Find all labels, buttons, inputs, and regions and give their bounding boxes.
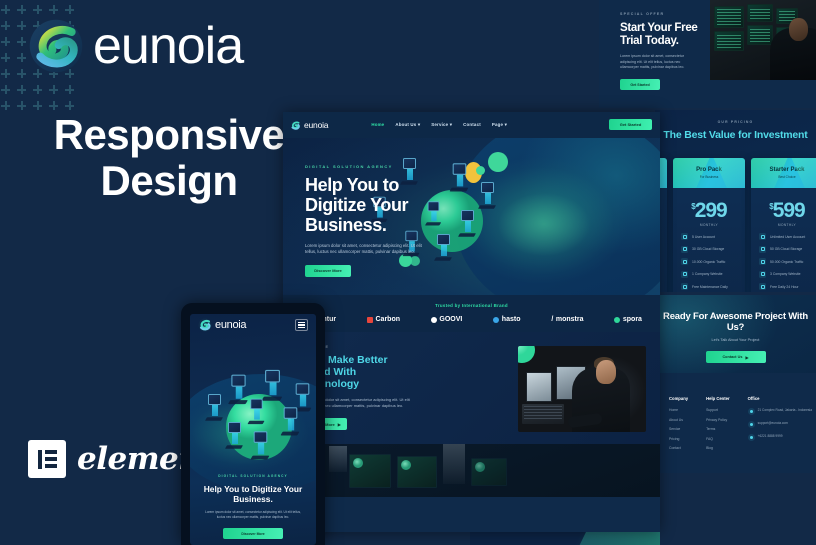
brand-mark-icon: [367, 317, 373, 323]
mockup-nav-item-home[interactable]: Home: [371, 122, 384, 128]
check-icon: [681, 233, 688, 240]
isometric-device-icon: [229, 375, 248, 406]
brand-logo-carbon: Carbon: [367, 316, 400, 323]
brand-logo-spora: spora: [614, 316, 642, 323]
plus-icon: [17, 53, 26, 62]
pricing-card-subtitle: Best Choice: [778, 175, 795, 179]
hero-text: Lorem ipsum dolor sit amet, consectetur …: [305, 243, 431, 256]
footer-office-item: 21 Complex Road, Jakarta - Indonesia: [748, 408, 812, 415]
footer-link[interactable]: Blog: [706, 446, 730, 450]
brand-mark-icon: /: [551, 316, 553, 323]
footer-link[interactable]: FAQ: [706, 437, 730, 441]
arrow-right-icon: ▶: [338, 422, 341, 427]
trial-text: Lorem ipsum dolor sit amet, consectetur …: [620, 54, 700, 70]
footer-link[interactable]: Pricing: [669, 437, 688, 441]
brand-logo-label: spora: [623, 316, 642, 323]
plus-icon: [17, 5, 26, 14]
mockup-logo[interactable]: eunoia: [290, 120, 328, 131]
plus-icon: [49, 5, 58, 14]
isometric-device-icon: [252, 431, 270, 460]
brand-logo-label: Carbon: [376, 316, 401, 323]
pricing-feature-list: 5 User Account30 GB Cloud Storage10.000 …: [673, 233, 745, 292]
mobile-navbar: eunoia: [190, 314, 316, 336]
pricing-card-price: $299MONTHLY: [673, 188, 745, 233]
mockup-nav-cta-button[interactable]: Get Started: [609, 119, 652, 130]
brand-mark-icon: [431, 317, 437, 323]
mobile-logo[interactable]: eunoia: [198, 318, 246, 332]
footer-link[interactable]: Service: [669, 427, 688, 431]
plus-icon: [1, 53, 10, 62]
mail-icon: [748, 421, 755, 428]
isometric-device-icon: [451, 163, 469, 192]
brand-logo-label: hasto: [502, 316, 521, 323]
pricing-card-subtitle: For Business: [700, 175, 719, 179]
server-room-monitors-photo: [283, 444, 660, 497]
check-icon: [681, 246, 688, 253]
plus-icon: [65, 5, 74, 14]
arrow-right-icon: ▶: [745, 355, 748, 360]
globe-backdrop: [454, 138, 660, 295]
footer-column-heading: Office: [748, 396, 812, 401]
footer-link[interactable]: Home: [669, 408, 688, 412]
pricing-feature: 10.000 Organic Traffic: [681, 258, 737, 265]
cta-title: Ready For Awesome Project With Us?: [655, 311, 816, 333]
pricing-feature: 30 GB Cloud Storage: [681, 246, 737, 253]
pricing-title: The Best Value for Investment: [655, 129, 816, 141]
pricing-feature: 5 User Account: [681, 233, 737, 240]
footer-link[interactable]: Support: [706, 408, 730, 412]
isometric-device-icon: [263, 370, 283, 402]
currency-symbol: $: [691, 202, 694, 211]
elementor-panel-icon: [28, 440, 66, 478]
plus-icon: [65, 85, 74, 94]
check-icon: [759, 271, 766, 278]
mockup-nav-item-about-us[interactable]: About Us ▾: [395, 122, 420, 128]
pricing-card-price: $599MONTHLY: [751, 188, 816, 233]
analyst-multiple-monitors-photo: [710, 0, 816, 80]
brand-logo-monstra: /monstra: [551, 316, 583, 323]
mockup-nav-item-service[interactable]: Service ▾: [431, 122, 452, 128]
hero-title: Help You to Digitize Your Business.: [305, 175, 451, 235]
plus-icon: [49, 101, 58, 110]
desktop-mockup: eunoia HomeAbout Us ▾Service ▾ContactPag…: [283, 112, 660, 532]
pricing-feature-list: Unlimited User Account50 GB Cloud Storag…: [751, 233, 816, 292]
plus-icon: [17, 69, 26, 78]
pricing-card-header: Pro PackFor Business: [673, 158, 745, 188]
plus-icon: [17, 37, 26, 46]
isometric-devices-globe-illustration: [190, 336, 316, 486]
pricing-period: MONTHLY: [751, 223, 816, 227]
plus-icon: [33, 85, 42, 94]
hero-eyebrow: DIGITAL SOLUTION AGENCY: [305, 164, 451, 169]
plus-icon: [1, 21, 10, 30]
pricing-card-pro-pack[interactable]: Pro PackFor Business$299MONTHLY5 User Ac…: [673, 158, 745, 292]
hamburger-menu-icon[interactable]: [295, 319, 308, 331]
plus-icon: [65, 101, 74, 110]
pricing-feature: 3 Company Website: [759, 271, 815, 278]
plus-icon: [17, 85, 26, 94]
pricing-card-name: Pro Pack: [696, 167, 722, 173]
brand-name: eunoia: [93, 20, 243, 72]
mockup-section-technology: WELCOME Let's Make Better World With Tec…: [283, 332, 660, 444]
footer-link[interactable]: Privacy Policy: [706, 418, 730, 422]
pricing-card-header: Starter PackBest Choice: [751, 158, 816, 188]
mobile-discover-button[interactable]: Discover More: [223, 528, 283, 539]
pricing-eyebrow: OUR PRICING: [655, 120, 816, 124]
plus-icon: [1, 85, 10, 94]
check-icon: [759, 233, 766, 240]
decor-blob: [488, 152, 508, 172]
check-icon: [681, 271, 688, 278]
check-icon: [681, 283, 688, 290]
trial-title: Start Your Free Trial Today.: [620, 22, 702, 47]
page-title: Responsive Design: [44, 112, 294, 204]
decor-dot: [518, 346, 535, 363]
pricing-card-name: Starter Pack: [769, 167, 804, 173]
brand-logo-label: GOOVI: [439, 316, 462, 323]
currency-symbol: $: [769, 202, 772, 211]
promo-stage: eunoia Responsive Design elementor SPECI…: [0, 0, 816, 545]
plus-icon: [1, 101, 10, 110]
headline-line-2: Design: [44, 158, 294, 204]
footer-column-heading: Company: [669, 396, 688, 401]
panel-project-cta: Ready For Awesome Project With Us? Let's…: [655, 295, 816, 373]
check-icon: [759, 246, 766, 253]
mockup-brand-strip: Trusted by International Brand AvonturCa…: [283, 295, 660, 332]
mobile-eyebrow: DIGITAL SOLUTION AGENCY: [202, 474, 304, 478]
check-icon: [681, 258, 688, 265]
brand-logo-hasto: hasto: [493, 316, 520, 323]
footer-column-help-center: Help CenterSupportPrivacy PolicyTermsFAQ…: [706, 396, 730, 456]
footer-column-office: Office21 Complex Road, Jakarta - Indones…: [748, 396, 812, 456]
brand-strip-label: Trusted by International Brand: [283, 303, 660, 308]
trial-cta-button[interactable]: Get Started: [620, 79, 660, 90]
pricing-card-starter-pack[interactable]: Starter PackBest Choice$599MONTHLYUnlimi…: [751, 158, 816, 292]
map-pin-icon: [748, 408, 755, 415]
brand-logo-goovi: GOOVI: [431, 316, 462, 323]
plus-icon: [1, 37, 10, 46]
decor-blob: [476, 166, 485, 175]
pricing-feature: 50 GB Cloud Storage: [759, 246, 815, 253]
isometric-device-icon: [226, 422, 243, 450]
eunoia-swirl-logo-icon: [28, 18, 84, 74]
footer-office-item: support@eunoia.com: [748, 421, 812, 428]
headline-line-1: Responsive: [44, 112, 294, 158]
mockup-navbar: eunoia HomeAbout Us ▾Service ▾ContactPag…: [283, 112, 660, 138]
panel-pricing: OUR PRICING The Best Value for Investmen…: [655, 110, 816, 292]
footer-link[interactable]: Contact: [669, 446, 688, 450]
footer-link[interactable]: Terms: [706, 427, 730, 431]
plus-icon: [17, 101, 26, 110]
brand-lockup: eunoia: [28, 18, 243, 74]
isometric-device-icon: [248, 399, 264, 426]
plus-icon: [1, 5, 10, 14]
footer-column-company: CompanyHomeAbout UsServicePricingContact: [669, 396, 688, 456]
phone-icon: [748, 434, 755, 441]
brand-logo-label: monstra: [556, 316, 584, 323]
pricing-card-row: Basic PackFor Personal$99MONTHLYChoose P…: [661, 158, 816, 292]
brand-mark-icon: [493, 317, 499, 323]
pricing-feature: Free Maintenance Daily: [681, 283, 737, 290]
isometric-device-icon: [206, 394, 223, 422]
check-icon: [759, 283, 766, 290]
trial-eyebrow: SPECIAL OFFER: [620, 12, 702, 16]
panel-free-trial: SPECIAL OFFER Start Your Free Trial Toda…: [599, 0, 816, 108]
mockup-nav-menu: HomeAbout Us ▾Service ▾ContactPage ▾: [371, 122, 507, 128]
footer-link[interactable]: About Us: [669, 418, 688, 422]
plus-icon: [33, 5, 42, 14]
mockup-nav-item-contact[interactable]: Contact: [463, 122, 481, 128]
mockup-hero: DIGITAL SOLUTION AGENCY Help You to Digi…: [283, 138, 660, 295]
isometric-device-icon: [479, 182, 496, 210]
check-icon: [759, 258, 766, 265]
plus-icon: [1, 69, 10, 78]
hero-discover-button[interactable]: Discover More: [305, 265, 351, 277]
eunoia-swirl-logo-icon: [198, 318, 212, 332]
cta-contact-button[interactable]: Contact Us ▶: [706, 351, 766, 363]
brand-mark-icon: [614, 317, 620, 323]
plus-icon: [17, 21, 26, 30]
pricing-feature: Unlimited User Account: [759, 233, 815, 240]
developer-at-desk-photo: [518, 346, 646, 432]
mockup-nav-item-page[interactable]: Page ▾: [492, 122, 507, 128]
pricing-feature: 50.000 Organic Traffic: [759, 258, 815, 265]
pricing-period: MONTHLY: [673, 223, 745, 227]
footer-office-item: +6221 8888 9999: [748, 434, 812, 441]
eunoia-swirl-logo-icon: [290, 120, 301, 131]
footer-column-heading: Help Center: [706, 396, 730, 401]
panel-footer: CompanyHomeAbout UsServicePricingContact…: [655, 373, 816, 473]
isometric-device-icon: [282, 407, 300, 436]
mobile-title: Help You to Digitize Your Business.: [202, 484, 304, 504]
pricing-feature: Free Daily 24 Hour: [759, 283, 815, 290]
isometric-device-icon: [459, 210, 476, 238]
pricing-feature: 1 Company Website: [681, 271, 737, 278]
mobile-text: Lorem ipsum dolor sit amet, consectetur …: [202, 510, 304, 520]
plus-icon: [49, 85, 58, 94]
cta-subtitle: Let's Talk About Your Project: [655, 338, 816, 342]
plus-icon: [33, 101, 42, 110]
mobile-mockup: eunoia DIGITAL SOLUTION AGENCY Help You …: [181, 303, 325, 545]
